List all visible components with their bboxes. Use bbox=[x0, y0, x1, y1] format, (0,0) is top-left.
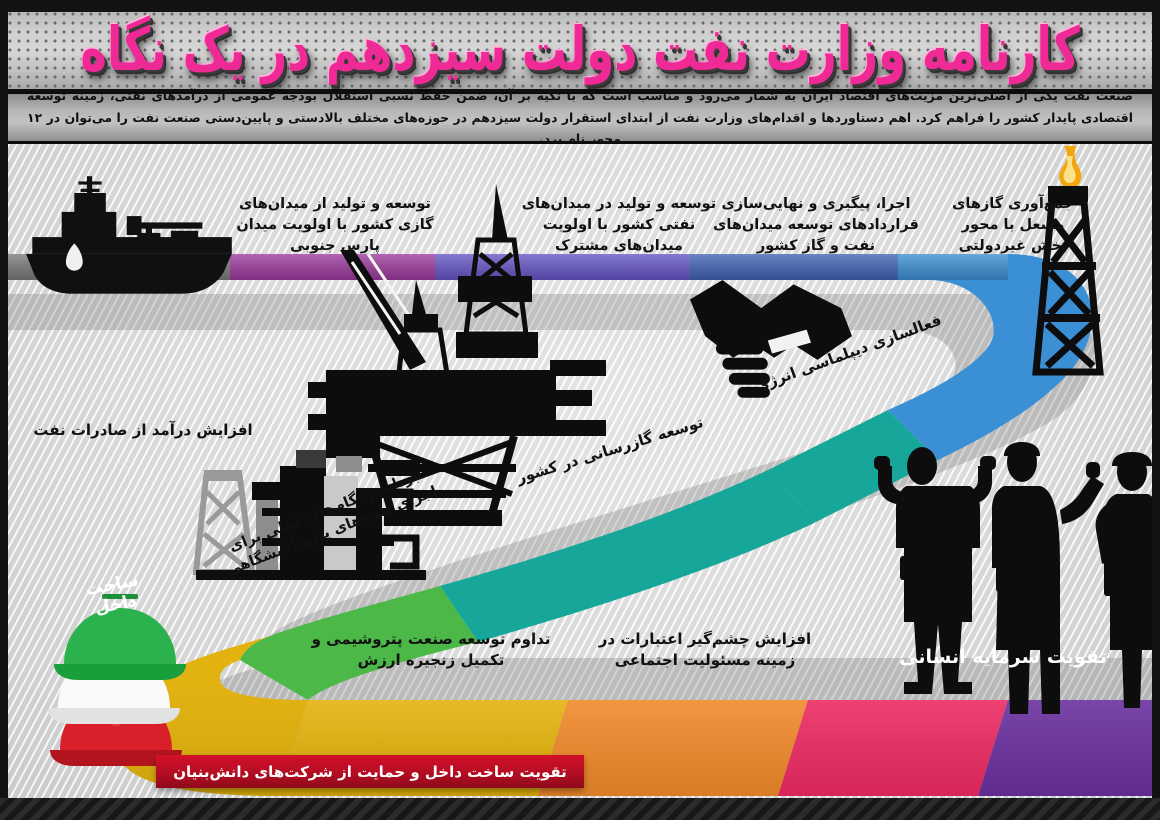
header-banner: کارنامه وزارت نفت دولت سیزدهم در یک نگاه bbox=[8, 12, 1152, 92]
axis-label-oil-export-revenue: افزایش درآمد از صادرات نفت bbox=[18, 421, 268, 439]
frame-bottom-border bbox=[0, 798, 1160, 820]
frame-left-border bbox=[0, 0, 8, 820]
frame-top-border bbox=[0, 0, 1160, 12]
frame-right-border bbox=[1152, 0, 1160, 820]
intro-paragraph: صنعت نفت یکی از اصلی‌ترین مزیت‌های اقتصا… bbox=[27, 85, 1133, 150]
oil-tanker-ship-icon bbox=[26, 176, 232, 294]
axis-label-flare-gas-collection: جمع‌آوری گازهای مشعل با محور بخش غیردولت… bbox=[948, 194, 1078, 257]
intro-bar: صنعت نفت یکی از اصلی‌ترین مزیت‌های اقتصا… bbox=[8, 92, 1152, 144]
domestic-manufacturing-banner: تقویت ساخت داخل و حمایت از شرکت‌های دانش… bbox=[156, 755, 584, 788]
axis-label-domestic-manufacturing: تقویت ساخت داخل و حمایت از شرکت‌های دانش… bbox=[173, 763, 567, 781]
axis-label-oil-fields-shared: توسعه و تولید در میدان‌های نفتی کشور با … bbox=[516, 194, 722, 257]
axis-label-gas-fields-south-pars: توسعه و تولید از میدان‌های گازی کشور با … bbox=[230, 194, 440, 257]
diagram-area: توسعه و تولید از میدان‌های گازی کشور با … bbox=[8, 144, 1152, 798]
infographic-canvas: کارنامه وزارت نفت دولت سیزدهم در یک نگاه… bbox=[0, 0, 1160, 820]
axis-label-contracts-finalization: اجرا، پیگیری و نهایی‌سازی قراردادهای توس… bbox=[708, 194, 924, 257]
axis-label-petrochemical-value-chain: تداوم توسعه صنعت پتروشیمی و تکمیل زنجیره… bbox=[296, 629, 566, 671]
axis-label-social-responsibility-credits: افزایش چشم‌گیر اعتبارات در زمینه مسئولیت… bbox=[580, 629, 830, 671]
page-title: کارنامه وزارت نفت دولت سیزدهم در یک نگاه bbox=[80, 14, 1079, 88]
axis-label-human-capital: تقویت سرمایه انسانی bbox=[888, 644, 1118, 671]
